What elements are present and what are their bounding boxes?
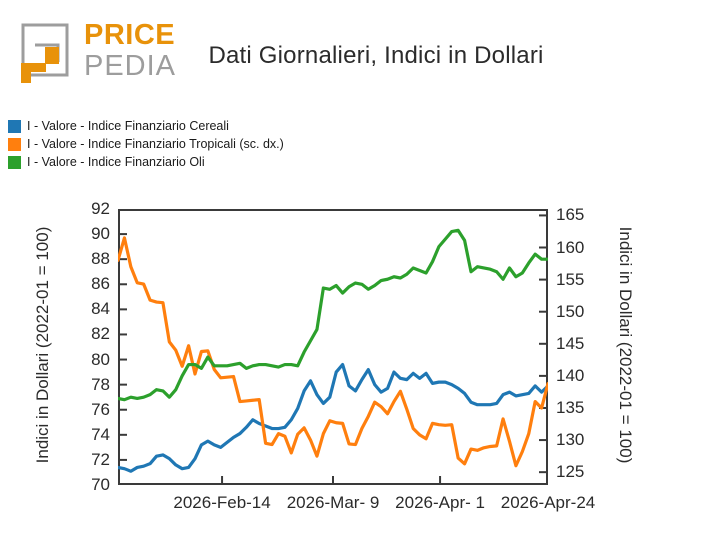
legend-label-cereali: I - Valore - Indice Finanziario Cereali bbox=[27, 120, 229, 133]
left-axis-tick-74: 74 bbox=[66, 425, 110, 445]
right-axis-title-text: Indici in Dollari (2022-01 = 100) bbox=[615, 195, 635, 495]
left-axis-tick-78: 78 bbox=[66, 375, 110, 395]
right-axis-tick-150: 150 bbox=[556, 302, 602, 322]
plot-area bbox=[118, 209, 548, 485]
legend-label-oli: I - Valore - Indice Finanziario Oli bbox=[27, 156, 205, 169]
right-axis-tick-125: 125 bbox=[556, 462, 602, 482]
left-axis-tick-90: 90 bbox=[66, 224, 110, 244]
legend-item-oli[interactable]: I - Valore - Indice Finanziario Oli bbox=[8, 154, 284, 171]
left-axis-tick-76: 76 bbox=[66, 400, 110, 420]
right-axis-tick-140: 140 bbox=[556, 366, 602, 386]
left-axis-tick-84: 84 bbox=[66, 299, 110, 319]
right-axis-tick-155: 155 bbox=[556, 270, 602, 290]
right-axis-tick-130: 130 bbox=[556, 430, 602, 450]
left-axis-tick-80: 80 bbox=[66, 350, 110, 370]
line-chart-svg bbox=[118, 209, 548, 485]
left-axis-title-text: Indici in Dollari (2022-01 = 100) bbox=[33, 195, 53, 495]
left-axis-tick-88: 88 bbox=[66, 249, 110, 269]
legend-item-cereali[interactable]: I - Valore - Indice Finanziario Cereali bbox=[8, 118, 284, 135]
left-axis-tick-70: 70 bbox=[66, 475, 110, 495]
right-axis-tick-145: 145 bbox=[556, 334, 602, 354]
left-axis-title: Indici in Dollari (2022-01 = 100) bbox=[30, 200, 56, 490]
left-axis-tick-92: 92 bbox=[66, 199, 110, 219]
chart-title: Dati Giornalieri, Indici in Dollari bbox=[0, 42, 712, 70]
right-axis-tick-135: 135 bbox=[556, 398, 602, 418]
legend-item-tropicali[interactable]: I - Valore - Indice Finanziario Tropical… bbox=[8, 136, 284, 153]
right-axis-tick-160: 160 bbox=[556, 238, 602, 258]
legend-label-tropicali: I - Valore - Indice Finanziario Tropical… bbox=[27, 138, 284, 151]
right-axis-title: Indici in Dollari (2022-01 = 100) bbox=[612, 200, 638, 490]
legend-swatch-oli bbox=[8, 156, 21, 169]
left-axis-tick-72: 72 bbox=[66, 450, 110, 470]
right-axis-tick-165: 165 bbox=[556, 205, 602, 225]
legend-swatch-tropicali bbox=[8, 138, 21, 151]
left-axis-tick-86: 86 bbox=[66, 274, 110, 294]
x-axis-tick-3: 2026-Apr-24 bbox=[483, 493, 613, 513]
left-axis-tick-82: 82 bbox=[66, 324, 110, 344]
chart-title-text: Dati Giornalieri, Indici in Dollari bbox=[168, 42, 543, 69]
legend-swatch-cereali bbox=[8, 120, 21, 133]
chart-legend: I - Valore - Indice Finanziario Cereali … bbox=[8, 118, 284, 172]
